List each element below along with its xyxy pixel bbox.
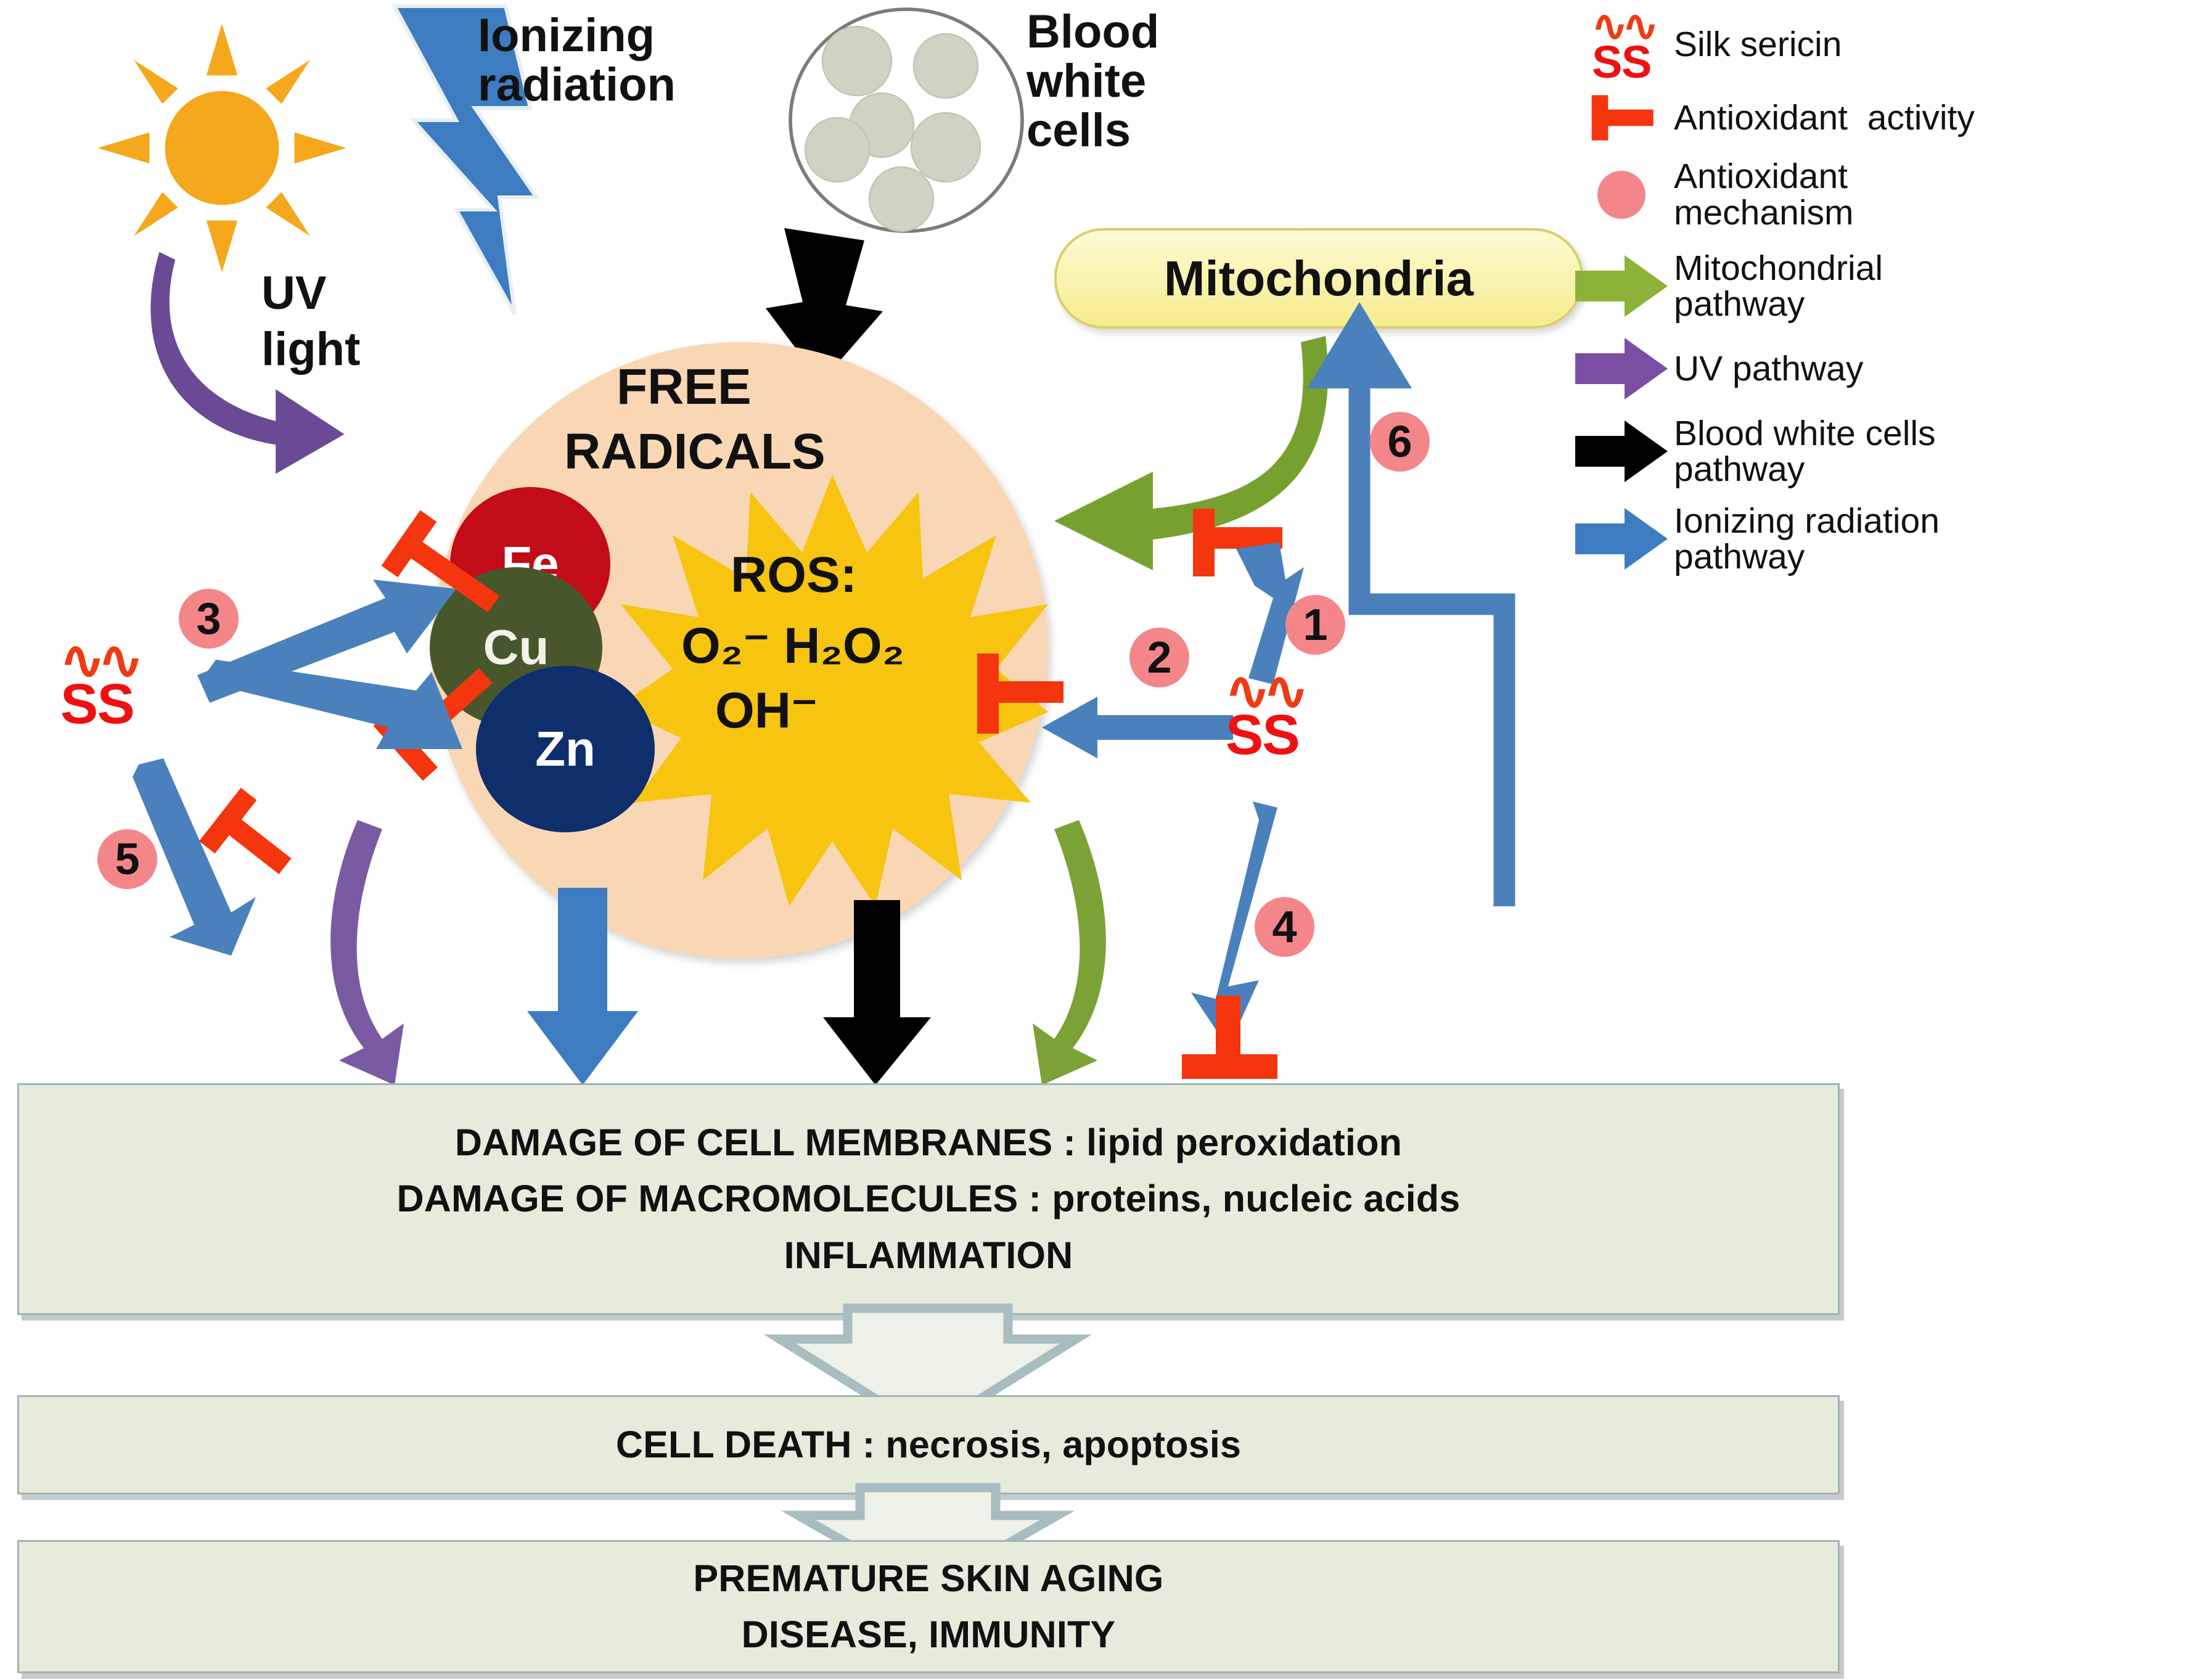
cell-death-box: CELL DEATH : necrosis, apoptosis — [17, 1395, 1840, 1494]
mitochondria-label: Mitochondria — [1164, 250, 1473, 307]
legend: ∿∿ SS Silk sericin Antioxidant activity … — [1569, 9, 2204, 578]
badge-4-label: 4 — [1272, 902, 1297, 953]
legend-label-silk-sericin: Silk sericin — [1674, 27, 1842, 62]
badge-4: 4 — [1255, 897, 1314, 957]
antioxidant-dot-icon — [1569, 171, 1674, 219]
legend-item-antioxidant-activity: Antioxidant activity — [1569, 93, 2204, 142]
metal-label-zn: Zn — [535, 721, 596, 777]
legend-item-antioxidant-mechanism: Antioxidant mechanism — [1569, 158, 2204, 230]
aging-line-1: PREMATURE SKIN AGING — [693, 1551, 1163, 1607]
legend-label-uv-pathway: UV pathway — [1674, 351, 1863, 387]
legend-item-blood-white-cells-pathway: Blood white cells pathway — [1569, 416, 2204, 487]
ionizing-radiation-label: Ionizing radiation — [478, 11, 676, 110]
damage-box: DAMAGE OF CELL MEMBRANES : lipid peroxid… — [17, 1083, 1840, 1315]
badge-2: 2 — [1129, 628, 1189, 687]
silk-sericin-glyph-left: ∿∿ SS — [59, 638, 136, 727]
legend-item-uv-pathway: UV pathway — [1569, 338, 2204, 400]
sun-icon — [92, 18, 351, 277]
legend-label-ionizing-radiation-pathway: Ionizing radiation pathway — [1674, 503, 1940, 575]
legend-label-blood-white-cells-pathway: Blood white cells pathway — [1674, 416, 1936, 487]
ros-label: ROS: — [731, 549, 857, 602]
legend-item-ionizing-radiation-pathway: Ionizing radiation pathway — [1569, 503, 2204, 575]
sericin-ss-text-right: SS — [1224, 713, 1301, 758]
green-arrow-icon — [1569, 255, 1674, 317]
free-radicals-title-line1: FREE — [617, 361, 752, 414]
antioxidant-bar-icon — [1569, 93, 1674, 142]
ros-formula-line2: OH⁻ — [715, 684, 818, 737]
ionizing-arrow-2 — [1042, 694, 1233, 761]
antioxidant-bar-5 — [197, 792, 302, 891]
cell-death-line-1: CELL DEATH : necrosis, apoptosis — [616, 1417, 1241, 1473]
ros-formula-line1: O₂⁻ H₂O₂ — [681, 620, 904, 673]
white-blood-cells-icon — [783, 6, 1030, 234]
badge-6-label: 6 — [1387, 417, 1412, 467]
damage-line-1: DAMAGE OF CELL MEMBRANES : lipid peroxid… — [455, 1115, 1402, 1171]
legend-label-mitochondrial-pathway: Mitochondrial pathway — [1674, 250, 1883, 322]
blood-white-cells-label: Blood white cells — [1027, 7, 1159, 155]
damage-line-3: INFLAMMATION — [784, 1227, 1073, 1284]
ionizing-arrow-to-mitochondria — [1313, 302, 1535, 919]
uv-light-label: UV light — [261, 265, 360, 377]
free-radicals-title-line2: RADICALS — [564, 425, 826, 478]
badge-1: 1 — [1285, 595, 1345, 655]
badge-6: 6 — [1370, 412, 1430, 472]
damage-line-2: DAMAGE OF MACROMOLECULES : proteins, nuc… — [397, 1171, 1461, 1227]
ionizing-pathway-arrow-down — [521, 888, 644, 1085]
legend-label-antioxidant-activity: Antioxidant activity — [1674, 100, 1975, 136]
aging-box: PREMATURE SKIN AGING DISEASE, IMMUNITY — [17, 1540, 1840, 1673]
legend-sericin-ss: SS — [1591, 44, 1652, 80]
black-arrow-icon — [1569, 420, 1674, 482]
legend-item-mitochondrial-pathway: Mitochondrial pathway — [1569, 250, 2204, 322]
sericin-ss-text: SS — [59, 682, 136, 727]
legend-item-silk-sericin: ∿∿ SS Silk sericin — [1569, 9, 2204, 80]
blue-arrow-icon — [1569, 508, 1674, 570]
antioxidant-bar-4 — [1179, 996, 1281, 1082]
aging-line-2: DISEASE, IMMUNITY — [742, 1607, 1116, 1663]
blood-white-cells-arrow-down — [820, 900, 937, 1085]
purple-arrow-icon — [1569, 338, 1674, 400]
badge-1-label: 1 — [1303, 600, 1327, 650]
uv-pathway-arrow-down — [302, 820, 469, 1085]
mitochondrial-pathway-arrow-down — [962, 820, 1134, 1085]
legend-label-antioxidant-mechanism: Antioxidant mechanism — [1674, 158, 1853, 230]
silk-sericin-glyph-right: ∿∿ SS — [1224, 669, 1301, 758]
silk-sericin-glyph-icon: ∿∿ SS — [1569, 9, 1674, 80]
badge-2-label: 2 — [1147, 633, 1171, 683]
ionizing-arrow-sericin-to-metals — [191, 580, 512, 783]
